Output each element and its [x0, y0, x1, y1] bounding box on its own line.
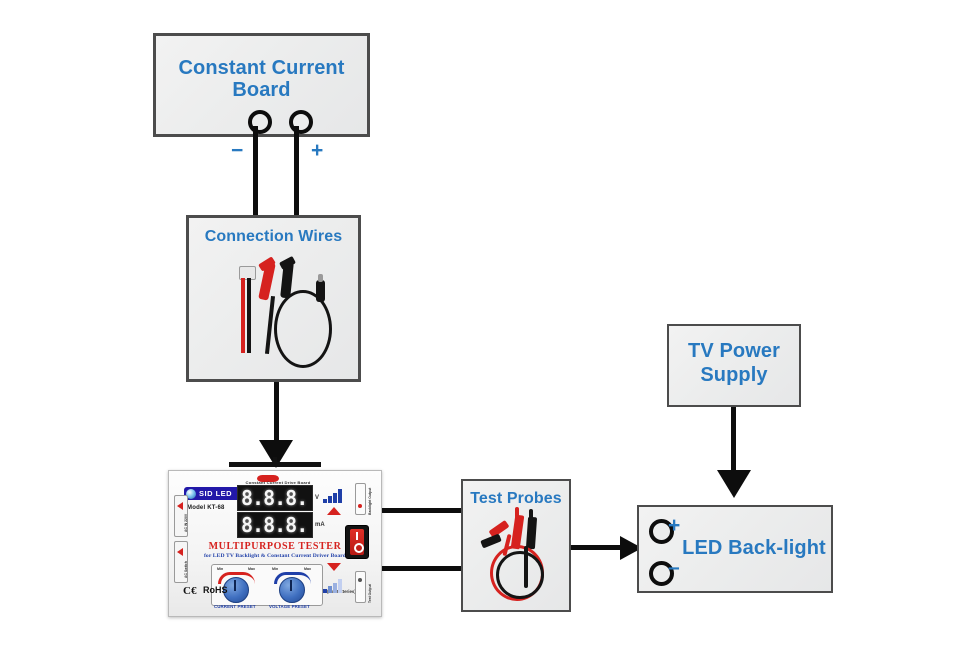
voltage-preset-knob[interactable] [279, 577, 305, 603]
backlight-output-jack[interactable] [355, 483, 366, 515]
led-plus-sign: + [668, 514, 680, 538]
backlight-up-arrow-icon [327, 507, 341, 515]
test-probes-label: Test Probes [461, 490, 571, 508]
probe-black-lead [524, 546, 528, 588]
voltage-display: 8.8.8. [237, 485, 313, 511]
pigtail-black-wire [247, 278, 251, 353]
backlight-jack-dot [358, 504, 362, 508]
probe-red-tip [515, 507, 519, 518]
ccb-terminal-minus[interactable] [248, 110, 272, 134]
ccb-minus-sign: − [231, 139, 243, 163]
current-preset-label: CURRENT PRESET [214, 604, 256, 609]
left-port-bottom-label: AC Switch [184, 561, 188, 578]
connection-wires-label: Connection Wires [186, 228, 361, 246]
voltage-knob-max-label: Max [304, 567, 311, 571]
probe-black-cable-coil [496, 551, 544, 599]
current-display-value: 8.8.8. [241, 515, 307, 535]
wire-tester-to-probes-bottom [382, 566, 463, 571]
left-port-top-label: AC IN 220V [184, 514, 188, 532]
test-output-jack[interactable] [355, 571, 366, 603]
left-port-top[interactable]: AC IN 220V [174, 495, 188, 537]
tester-title-sub: for LED TV Backlight & Constant Current … [179, 553, 371, 559]
tester-title-main: MULTIPURPOSE TESTER [179, 541, 371, 552]
power-switch-rocker [350, 529, 364, 555]
test-down-arrow-icon [327, 563, 341, 571]
ccb-plus-sign: + [311, 139, 323, 163]
backlight-output-bars-icon [323, 487, 345, 503]
current-knob-min-label: Min [217, 567, 223, 571]
tester-top-stem [273, 457, 277, 464]
backlight-output-label: Backlight Output [368, 488, 372, 515]
wire-ccb-minus [253, 126, 258, 218]
wire-ccb-plus [294, 126, 299, 218]
dc-barrel-plug [316, 280, 325, 302]
multipurpose-tester-device[interactable]: Constant Current Drive Board SID LED Mod… [168, 470, 382, 617]
ce-mark: C€ [183, 585, 196, 597]
probe-black-tip [529, 509, 533, 520]
ccb-terminal-plus[interactable] [289, 110, 313, 134]
test-output-bars-icon [323, 577, 345, 593]
test-jack-dot [358, 578, 362, 582]
power-switch[interactable] [345, 525, 369, 559]
current-display: 8.8.8. [237, 512, 313, 538]
tester-model-text: Model KT-68 [187, 505, 225, 511]
wire-psu-to-backlight [731, 407, 736, 476]
left-port-top-arrow-icon [177, 502, 183, 510]
wire-to-tester [274, 382, 279, 446]
voltage-display-value: 8.8.8. [241, 488, 307, 508]
dc-barrel-tip [318, 274, 323, 282]
preset-knob-panel: Min Max Min Max [211, 564, 323, 606]
wire-probes-to-backlight [571, 545, 626, 550]
led-minus-sign: – [668, 556, 680, 580]
left-port-bottom[interactable]: AC Switch [174, 541, 188, 583]
left-port-bottom-arrow-icon [177, 548, 183, 556]
tv-power-supply-label-line1: TV Power [667, 340, 801, 362]
voltage-preset-label: VOLTAGE PRESET [269, 604, 310, 609]
test-output-label: Test Output [368, 584, 372, 603]
diagram-canvas: Constant Current Board − + Connection Wi… [0, 0, 960, 648]
current-unit-label: mA [315, 522, 325, 528]
arrow-down-to-backlight [717, 470, 751, 498]
current-knob-max-label: Max [248, 567, 255, 571]
voltage-unit-label: V [315, 495, 319, 501]
tester-brand-text: SID LED [199, 489, 232, 498]
tv-power-supply-label-line2: Supply [667, 364, 801, 386]
wire-tester-to-probes-top [382, 508, 463, 513]
tester-brand-logo: SID LED [184, 487, 240, 500]
constant-current-board-label: Constant Current Board [153, 57, 370, 102]
voltage-knob-min-label: Min [272, 567, 278, 571]
led-backlight-label: LED Back-light [680, 537, 828, 559]
pigtail-red-wire [241, 278, 245, 353]
rohs-mark: RoHS [203, 585, 228, 595]
